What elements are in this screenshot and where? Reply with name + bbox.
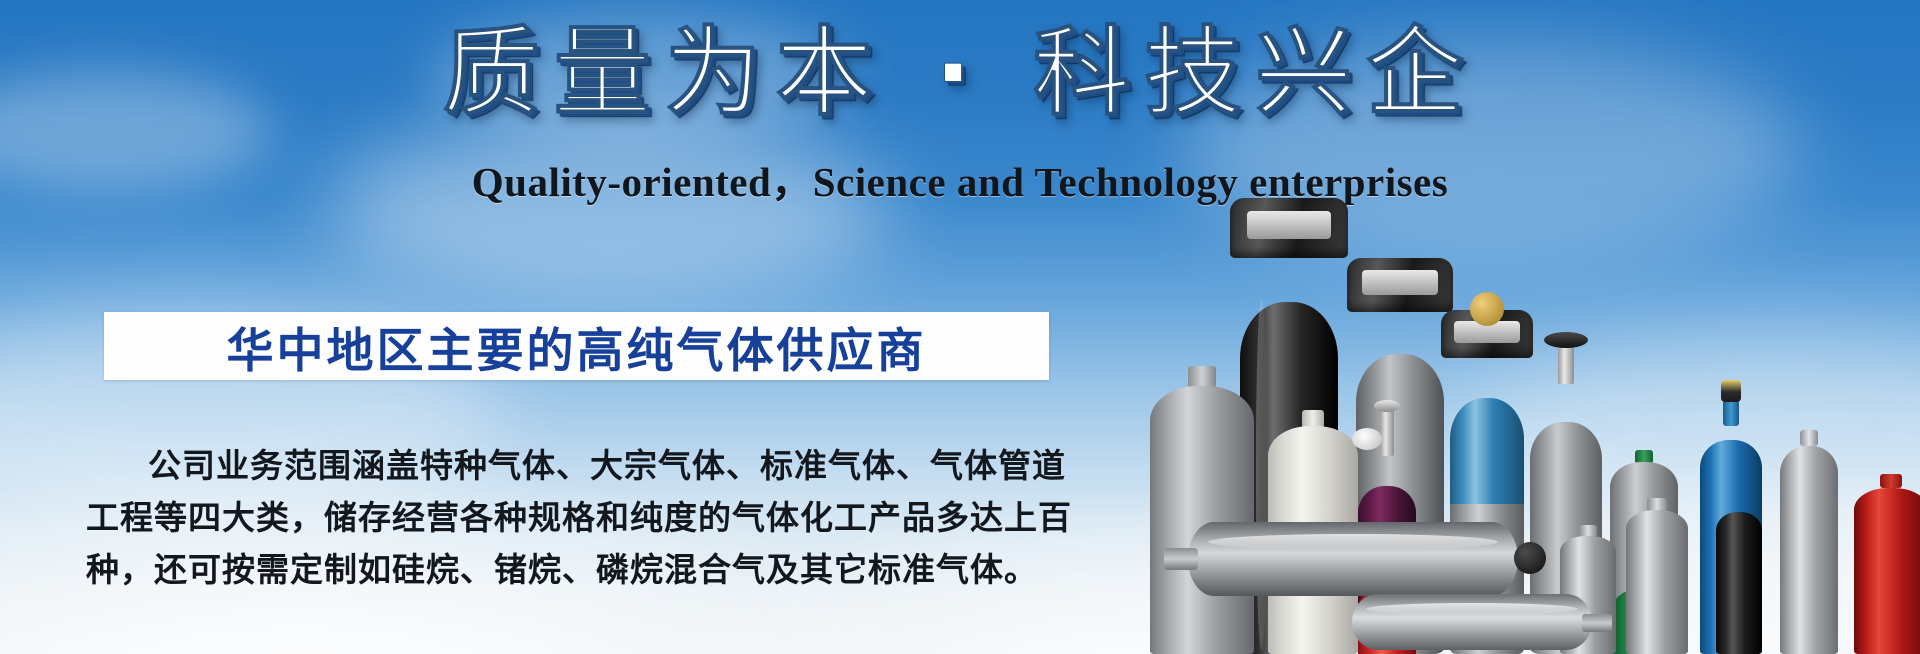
red-purple-cylinder-valve — [1380, 410, 1394, 456]
body-line-1: 公司业务范围涵盖特种气体、大宗气体、标准气体、气体管道 — [86, 440, 1071, 492]
black-small-cylinder — [1716, 512, 1762, 654]
brass-valve-knob — [1470, 292, 1504, 326]
banner-headline: 质量为本 · 科技兴企 — [0, 22, 1920, 125]
black-cylinder-cap — [1230, 198, 1348, 258]
red-cylinder-neck — [1880, 474, 1902, 488]
grey-cylinder-cap — [1347, 258, 1453, 312]
highlight-box-text: 华中地区主要的高纯气体供应商 — [227, 312, 927, 381]
horizontal-small-cylinder — [1352, 594, 1592, 650]
light-grey-cylinder — [1150, 382, 1254, 654]
promotional-banner: 质量为本 · 科技兴企 Quality-oriented，Science and… — [0, 0, 1920, 654]
grey-cylinder-handwheel-icon — [1544, 332, 1588, 348]
horizontal-small-cylinder-gloss — [1366, 603, 1577, 615]
regulator-gauge-icon — [1352, 428, 1382, 450]
horizontal-small-cylinder-stub — [1582, 614, 1612, 632]
aluminium-cylinder-neck — [1800, 430, 1818, 446]
horizontal-cylinder-gloss — [1208, 534, 1498, 550]
light-grey-cylinder-neck — [1188, 366, 1216, 388]
aluminium-cylinder-body — [1780, 446, 1838, 654]
red-purple-cylinder-knob — [1374, 400, 1400, 412]
highlight-box: 华中地区主要的高纯气体供应商 — [104, 312, 1049, 380]
body-line-2: 工程等四大类，储存经营各种规格和纯度的气体化工产品多达上百 — [86, 492, 1071, 544]
black-small-cylinder-body — [1716, 512, 1762, 654]
horizontal-grey-cylinder — [1188, 522, 1518, 596]
horizontal-cylinder-end-stub — [1164, 548, 1198, 570]
red-cylinder — [1854, 484, 1920, 654]
blue-cylinder-neck — [1723, 400, 1739, 426]
red-cylinder-body — [1854, 488, 1920, 654]
gas-cylinder-group — [1140, 150, 1920, 654]
aluminium-medium-body — [1626, 510, 1688, 654]
body-line-3: 种，还可按需定制如硅烷、锗烷、磷烷混合气及其它标准气体。 — [86, 544, 1071, 596]
light-grey-cylinder-body — [1150, 386, 1254, 654]
yellow-valve-cap-icon — [1721, 380, 1741, 402]
grey-knob-cylinder-valve — [1558, 344, 1574, 384]
cloud-puff-center — [330, 120, 890, 300]
banner-body-copy: 公司业务范围涵盖特种气体、大宗气体、标准气体、气体管道 工程等四大类，储存经营各… — [86, 440, 1071, 596]
horizontal-cylinder-valve-knob-icon — [1514, 542, 1546, 574]
aluminium-medium-cylinder — [1626, 508, 1688, 654]
aluminium-cylinder — [1780, 442, 1838, 654]
